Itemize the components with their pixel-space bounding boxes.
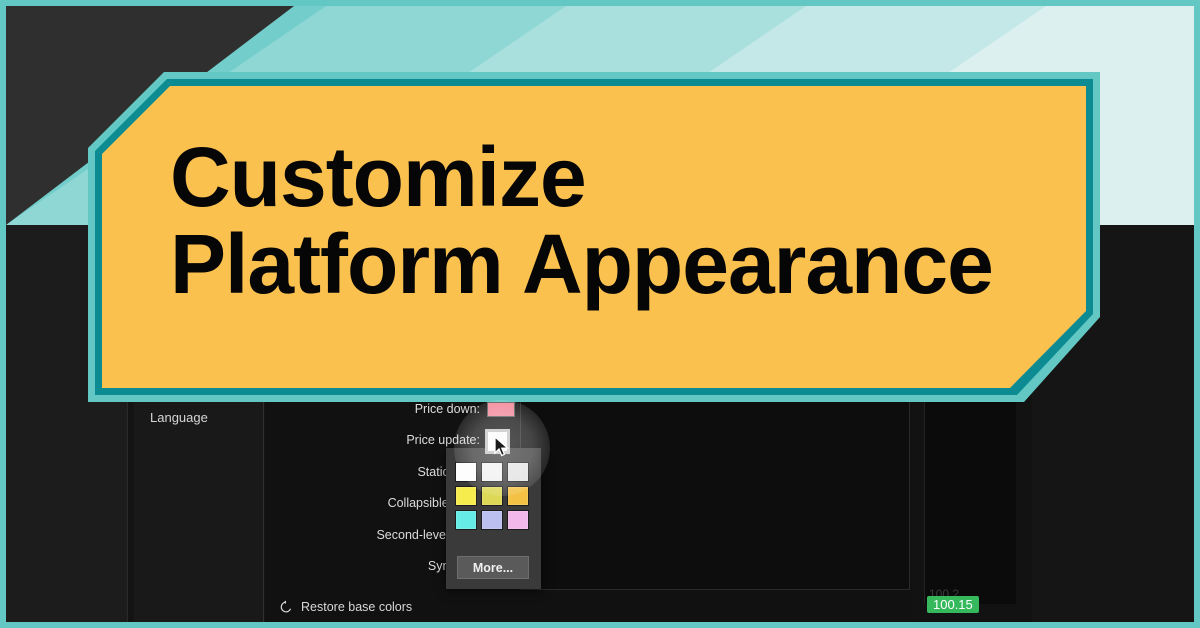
sidebar-item-language[interactable]: Language (150, 410, 208, 425)
restore-base-colors-label: Restore base colors (301, 600, 412, 614)
setting-label-price-update: Price update: (406, 433, 480, 447)
color-swatch[interactable] (455, 486, 477, 506)
page-root: Language Price down: Price update: Stati… (0, 0, 1200, 628)
banner-title-line2: Platform Appearance (170, 221, 1070, 308)
color-swatch[interactable] (481, 462, 503, 482)
mouse-cursor-icon (494, 436, 510, 458)
banner-title: Customize Platform Appearance (170, 134, 1070, 309)
color-swatch-grid (455, 462, 529, 530)
swatch-price-down[interactable] (487, 402, 515, 417)
setting-label-price-down: Price down: (415, 402, 480, 416)
color-swatch[interactable] (481, 510, 503, 530)
restore-base-colors-button[interactable]: Restore base colors (279, 600, 412, 614)
banner-title-line1: Customize (170, 134, 1070, 221)
title-banner: Customize Platform Appearance (88, 72, 1100, 402)
color-swatch[interactable] (507, 510, 529, 530)
color-swatch[interactable] (481, 486, 503, 506)
color-picker-popup[interactable]: More... (446, 448, 541, 589)
price-badge-bottom: 100.15 (927, 596, 979, 613)
color-swatch[interactable] (507, 462, 529, 482)
setting-row-price-down: Price down: (265, 402, 480, 416)
more-colors-button[interactable]: More... (457, 556, 529, 579)
color-swatch[interactable] (507, 486, 529, 506)
restore-icon (279, 600, 293, 614)
color-swatch[interactable] (455, 462, 477, 482)
color-swatch[interactable] (455, 510, 477, 530)
setting-row-price-update: Price update: (265, 433, 480, 447)
